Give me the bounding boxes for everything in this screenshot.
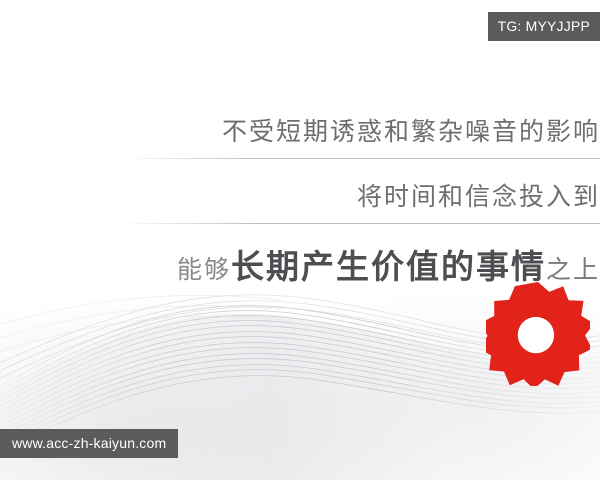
headline-line-3-suffix: 之上 [546,256,600,284]
poster-canvas: TG: MYYJJPP 不受短期诱惑和繁杂噪音的影响 将时间和信念投入到 能够长… [0,0,600,480]
red-starburst-logo [486,282,590,386]
headline-block: 不受短期诱惑和繁杂噪音的影响 将时间和信念投入到 能够长期产生价值的事情之上 [120,120,600,283]
headline-line-3-emphasis: 长期产生价值的事情 [231,248,546,285]
website-url-badge: www.acc-zh-kaiyun.com [0,429,178,458]
telegram-tag-badge: TG: MYYJJPP [488,12,600,41]
headline-line-3: 能够长期产生价值的事情之上 [120,224,600,283]
headline-line-1: 不受短期诱惑和繁杂噪音的影响 [120,120,600,159]
headline-line-3-prefix: 能够 [177,256,231,284]
headline-line-2: 将时间和信念投入到 [120,159,600,224]
